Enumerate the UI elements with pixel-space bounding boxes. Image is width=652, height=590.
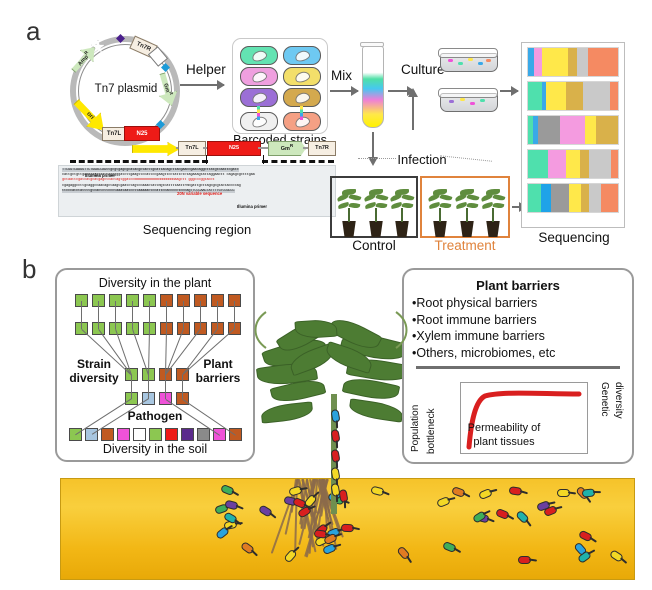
- microbe-in-stem: [330, 449, 340, 463]
- sequencing-bar-segment: [541, 184, 552, 212]
- sequencing-bar-segment: [528, 150, 548, 178]
- construct-tn7l: Tn7L: [178, 141, 206, 156]
- figure-root: a Tn7 plasmid AmpR GmR ori Tn7L N25 Tn7R…: [0, 0, 652, 590]
- panel-a-letter: a: [26, 16, 40, 47]
- strain-cell-green: [240, 46, 278, 65]
- microbe-in-soil: [557, 489, 570, 497]
- plant-control-2: [363, 181, 389, 237]
- bracket-right-icon: [392, 310, 416, 350]
- bottleneck-edge: [149, 301, 150, 329]
- plasmid-segment-n25: N25: [124, 126, 160, 141]
- arrow-culture-up: [412, 96, 414, 130]
- step-label-mix: Mix: [331, 68, 352, 83]
- inset-y-left-label-2: bottleneck: [426, 380, 437, 454]
- strain-cell-pink: [240, 67, 278, 86]
- bottleneck-edge: [165, 375, 166, 399]
- microbe-in-soil: [396, 546, 411, 561]
- inset-y-left-label: Population: [410, 382, 421, 452]
- sequencing-bar-segment: [596, 116, 618, 144]
- barcode-bar-right: [300, 106, 303, 120]
- bottleneck-node-soil: [149, 428, 162, 441]
- sequencing-bar-segment: [577, 48, 588, 76]
- microbe-in-soil: [220, 483, 235, 495]
- bottleneck-edge: [200, 301, 201, 329]
- panel-a: a Tn7 plasmid AmpR GmR ori Tn7L N25 Tn7R…: [0, 0, 652, 250]
- sequencing-bar-row: [527, 183, 619, 213]
- bottleneck-node-soil: [117, 428, 130, 441]
- illumina-primer-label-top: Illumina primer: [85, 173, 115, 178]
- step-label-helper: Helper: [186, 62, 226, 77]
- inset-x-label-2: plant tissues: [444, 436, 564, 448]
- tn7-plasmid-diagram: Tn7 plasmid AmpR GmR ori Tn7L N25 Tn7R: [58, 28, 193, 158]
- microbe-in-soil: [582, 489, 596, 498]
- inset-y-right-label-2: diversity: [613, 382, 624, 450]
- bottleneck-edge: [81, 301, 82, 329]
- sequencing-bar-segment: [588, 48, 618, 76]
- microbe-in-stem: [330, 467, 340, 481]
- sequencing-bar-row: [527, 149, 619, 179]
- sequencing-bar-segment: [548, 150, 566, 178]
- bottleneck-edge: [131, 375, 132, 399]
- sequencing-bar-segment: [581, 184, 589, 212]
- microbe-in-soil: [341, 524, 354, 533]
- sequencing-bar-row: [527, 47, 619, 77]
- sequencing-caption: Sequencing: [515, 230, 633, 245]
- plant-control-3: [389, 181, 415, 237]
- inset-x-label-1: Permeability of: [444, 422, 564, 434]
- sequencing-bar-segment: [611, 150, 618, 178]
- mix-tube-icon: [360, 42, 384, 128]
- plant-treatment-2: [454, 181, 480, 237]
- sequencing-bar-segment: [566, 82, 583, 110]
- bottleneck-diagram-box: Diversity in the plant Diversity in the …: [55, 268, 255, 462]
- barrier-item-3: •Xylem immune barriers: [412, 328, 624, 345]
- bottleneck-edge: [182, 375, 183, 399]
- construct-ori-arrow: [132, 142, 180, 156]
- sequencing-bar-row: [527, 115, 619, 145]
- microbe-in-soil: [509, 486, 523, 496]
- plasmid-segment-tn7l: Tn7L: [102, 127, 126, 141]
- dash-guide-left: [70, 160, 208, 163]
- bottleneck-edge: [98, 301, 99, 329]
- plant-leaf: [348, 398, 404, 422]
- sequencing-bar-segment: [568, 48, 578, 76]
- microbe-in-soil: [442, 541, 457, 553]
- barrier-item-1: •Root physical barriers: [412, 295, 624, 312]
- bottleneck-edge: [183, 301, 184, 329]
- sequencing-bar-segment: [583, 82, 610, 110]
- microbe-in-soil: [215, 525, 230, 539]
- microbe-in-stem: [330, 409, 340, 423]
- sequencing-bar-segment: [566, 150, 580, 178]
- sequencing-bar-segment: [580, 150, 589, 178]
- microbe-in-soil: [518, 556, 531, 564]
- microbe-in-soil: [478, 488, 493, 500]
- variable-sequence-label: 20N variable sequence: [177, 191, 222, 196]
- bottleneck-node-soil: [101, 428, 114, 441]
- sequencing-bar-segment: [610, 82, 618, 110]
- panel-b-letter: b: [22, 254, 36, 285]
- bottleneck-node-soil: [165, 428, 178, 441]
- strain-cell-yellow: [283, 67, 321, 86]
- plant-barriers-title: Plant barriers: [412, 278, 624, 293]
- plant-treatment-3: [480, 181, 506, 237]
- sequencing-bar-segment: [569, 184, 581, 212]
- bottleneck-node-graph: [57, 270, 253, 460]
- strain-cell-purple: [240, 88, 278, 107]
- sequencing-bar-segment: [542, 48, 567, 76]
- sequencing-bar-row: [527, 81, 619, 111]
- sequencing-bar-segment: [585, 116, 597, 144]
- microbe-in-soil: [240, 541, 255, 555]
- microbe-in-soil: [609, 549, 624, 563]
- sequencing-bar-segment: [589, 184, 601, 212]
- plant-treatment-1: [427, 181, 453, 237]
- sequencing-bar-segment: [534, 48, 542, 76]
- control-plant-group: [330, 176, 418, 238]
- barcoded-strains-box: [232, 38, 328, 134]
- panel-b: b Diversity in the plant Diversity in th…: [0, 250, 652, 590]
- sequencing-bar-segment: [601, 184, 618, 212]
- microbe-in-stem: [338, 489, 348, 503]
- strain-cell-gold: [283, 88, 321, 107]
- sequencing-bars-chart: [521, 42, 625, 228]
- petri-dish-top: [440, 48, 496, 72]
- divider-rule: [416, 366, 620, 369]
- microbe-in-soil: [436, 496, 451, 508]
- sequencing-bar-segment: [560, 116, 584, 144]
- sequencing-bar-segment: [528, 184, 541, 212]
- step-label-culture: Culture: [401, 62, 445, 77]
- sequencing-bar-segment: [538, 116, 561, 144]
- arrow-helper: [180, 84, 224, 86]
- plant-barriers-box: Plant barriers •Root physical barriers •…: [402, 268, 634, 464]
- plant-control-1: [336, 181, 362, 237]
- petri-dish-bottom: [440, 88, 496, 112]
- bottleneck-edge: [217, 301, 218, 329]
- plasmid-name-label: Tn7 plasmid: [80, 83, 172, 95]
- strain-cell-blue: [283, 46, 321, 65]
- barcode-bar-left: [257, 106, 260, 120]
- barrier-item-4: •Others, microbiomes, etc: [412, 345, 624, 362]
- bottleneck-node-soil: [133, 428, 146, 441]
- bottleneck-edge: [115, 301, 116, 329]
- microbe-in-stem: [330, 429, 340, 443]
- sequencing-region-caption: Sequencing region: [58, 222, 336, 237]
- linear-construct-diagram: Tn7L N25 GmR Tn7R: [132, 140, 332, 156]
- dash-guide-right: [262, 160, 334, 163]
- inset-y-right-label: Genetic: [599, 382, 610, 448]
- bottleneck-node-soil: [197, 428, 210, 441]
- bracket-left-icon: [246, 310, 270, 350]
- arrow-to-sequencing-top: [500, 90, 518, 92]
- bottleneck-node-soil: [181, 428, 194, 441]
- arrow-mix: [330, 90, 358, 92]
- sequencing-bar-segment: [546, 82, 566, 110]
- bottleneck-edge: [98, 329, 132, 376]
- plant-illustration: [255, 320, 415, 520]
- construct-n25: N25: [207, 141, 261, 156]
- plant-leaf: [260, 401, 313, 423]
- bottleneck-edge: [166, 301, 167, 329]
- construct-gm: GmR: [268, 141, 306, 156]
- construct-tn7r: Tn7R: [308, 141, 336, 156]
- illumina-primer-label-bottom: Illumina primer: [237, 204, 267, 209]
- microbe-in-soil: [495, 508, 510, 520]
- microbe-in-soil: [516, 510, 531, 525]
- sequencing-region-box: TTCGGTCAAGGTTCTGGACCAGttgcgtgagcgcatacgc…: [58, 165, 336, 217]
- treatment-plant-group: [420, 176, 510, 238]
- sequencing-bar-segment: [589, 150, 611, 178]
- sequencing-bar-segment: [551, 184, 569, 212]
- bottleneck-edge: [148, 375, 149, 399]
- sequencing-bar-segment: [528, 82, 542, 110]
- microbe-in-soil: [283, 548, 298, 563]
- microbe-in-soil: [578, 530, 593, 543]
- bottleneck-edge: [132, 301, 133, 329]
- bottleneck-edge: [234, 301, 235, 329]
- barrier-item-2: •Root immune barriers: [412, 312, 624, 329]
